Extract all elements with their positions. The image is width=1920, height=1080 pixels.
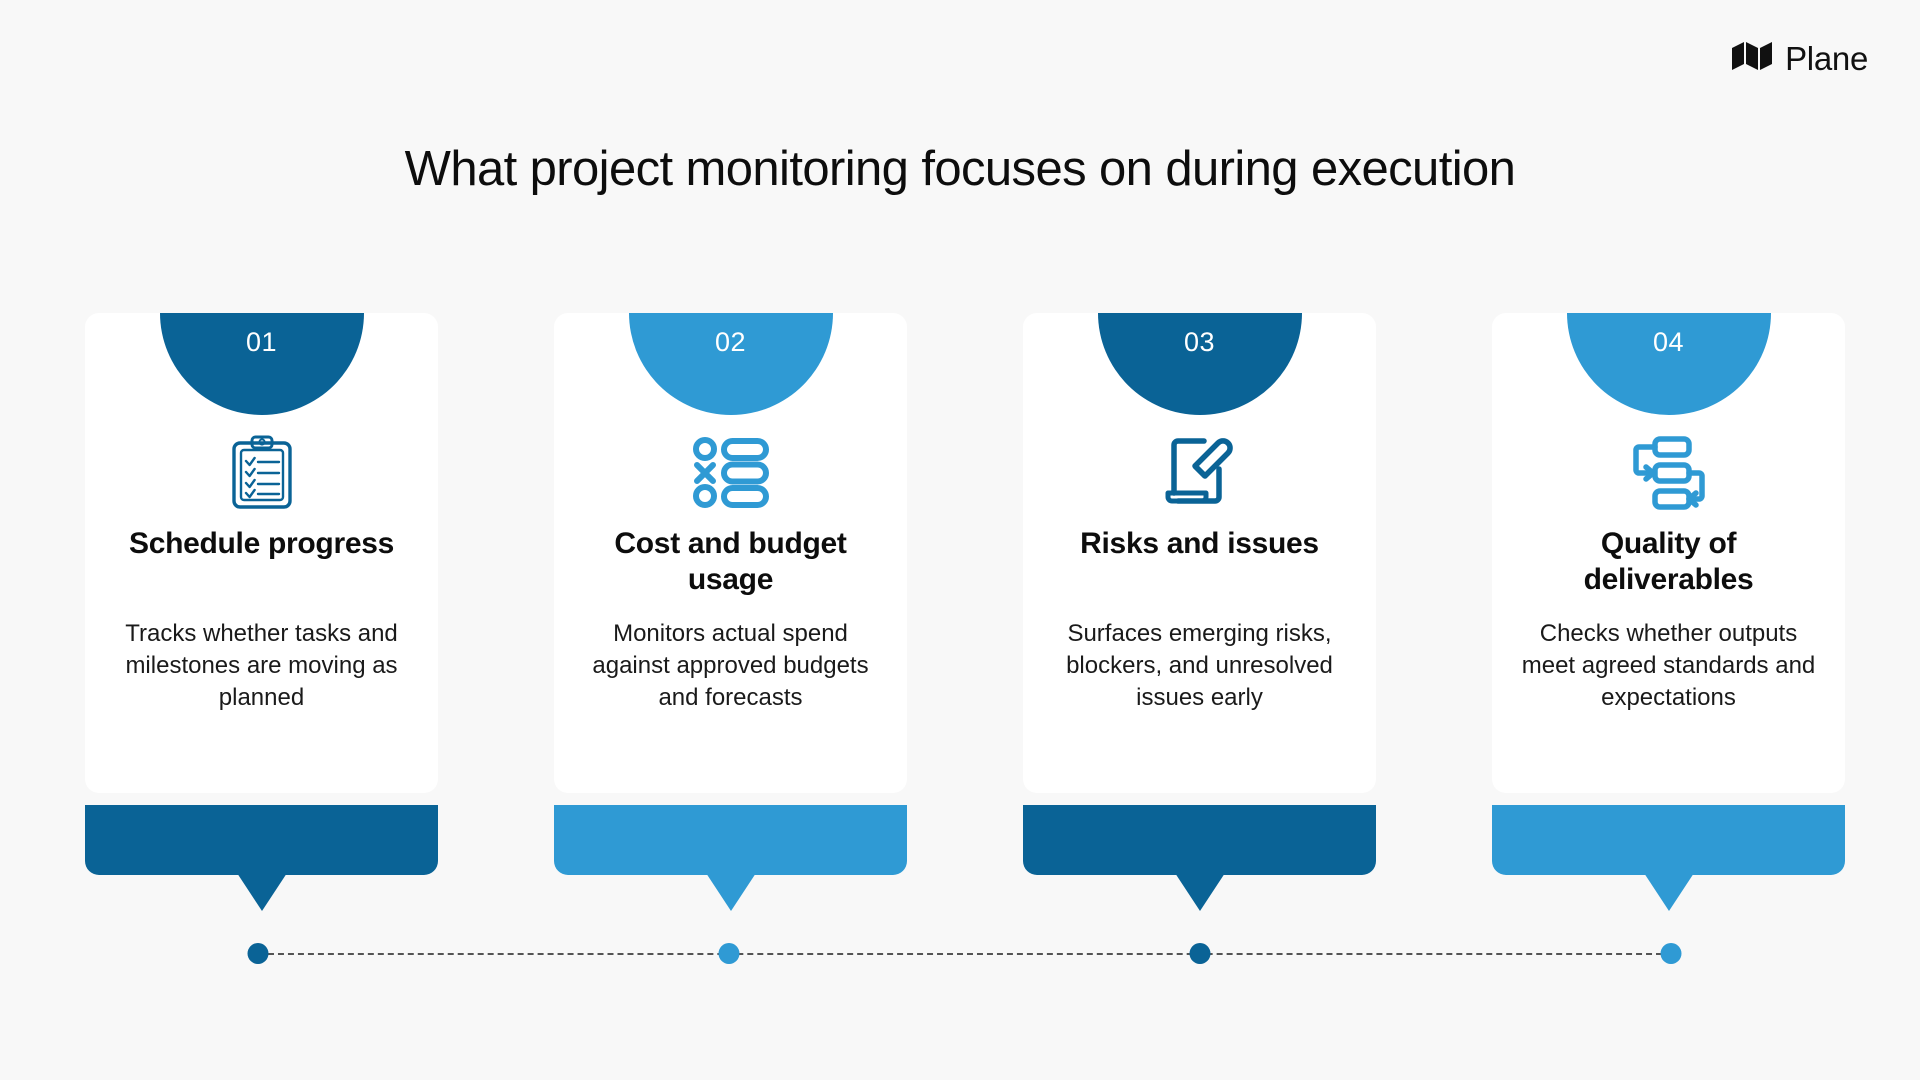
card-03[interactable]: 03 Risks and issues Surfaces emerging ri… — [1023, 313, 1376, 793]
card-footer-bar — [1492, 805, 1845, 875]
card-number: 03 — [1184, 329, 1215, 356]
card-surface: 04 Quality of deliverables Checks whethe… — [1492, 313, 1845, 793]
card-description: Surfaces emerging risks, blockers, and u… — [1049, 618, 1350, 714]
card-title: Cost and budget usage — [582, 526, 879, 598]
card-title: Risks and issues — [1051, 526, 1348, 562]
card-footer-bar — [85, 805, 438, 875]
card-pointer-arrow — [1644, 873, 1694, 911]
card-number-badge: 04 — [1567, 313, 1771, 415]
card-number: 01 — [246, 329, 277, 356]
card-title: Quality of deliverables — [1520, 526, 1817, 598]
clipboard-checklist-icon — [85, 433, 438, 513]
timeline-dashed-line — [258, 953, 1672, 955]
card-title: Schedule progress — [113, 526, 410, 562]
card-number-badge: 02 — [629, 313, 833, 415]
page-title: What project monitoring focuses on durin… — [0, 141, 1920, 197]
cards-grid: 01 Schedule progress — [85, 313, 1845, 793]
card-number: 04 — [1653, 329, 1684, 356]
timeline — [0, 953, 1920, 955]
plane-logo-icon — [1731, 41, 1773, 76]
card-02[interactable]: 02 Cost and budget usage Monitors actual… — [554, 313, 907, 793]
workflow-diagram-icon — [1492, 433, 1845, 513]
card-number: 02 — [715, 329, 746, 356]
timeline-dot-4[interactable] — [1661, 943, 1682, 964]
brand-name: Plane — [1785, 42, 1868, 75]
card-04[interactable]: 04 Quality of deliverables Checks whethe… — [1492, 313, 1845, 793]
card-footer-bar — [554, 805, 907, 875]
timeline-dot-2[interactable] — [719, 943, 740, 964]
card-01[interactable]: 01 Schedule progress — [85, 313, 438, 793]
card-surface: 03 Risks and issues Surfaces emerging ri… — [1023, 313, 1376, 793]
card-pointer-arrow — [706, 873, 756, 911]
card-description: Monitors actual spend against approved b… — [580, 618, 881, 714]
card-pointer-arrow — [1175, 873, 1225, 911]
card-description: Tracks whether tasks and milestones are … — [111, 618, 412, 714]
card-footer-bar — [1023, 805, 1376, 875]
timeline-dot-1[interactable] — [248, 943, 269, 964]
card-pointer-arrow — [237, 873, 287, 911]
brand-logo: Plane — [1731, 41, 1868, 76]
card-surface: 01 Schedule progress — [85, 313, 438, 793]
timeline-dot-3[interactable] — [1190, 943, 1211, 964]
document-edit-icon — [1023, 433, 1376, 513]
card-number-badge: 01 — [160, 313, 364, 415]
card-number-badge: 03 — [1098, 313, 1302, 415]
card-description: Checks whether outputs meet agreed stand… — [1518, 618, 1819, 714]
task-list-icon — [554, 433, 907, 513]
card-surface: 02 Cost and budget usage Monitors actual… — [554, 313, 907, 793]
